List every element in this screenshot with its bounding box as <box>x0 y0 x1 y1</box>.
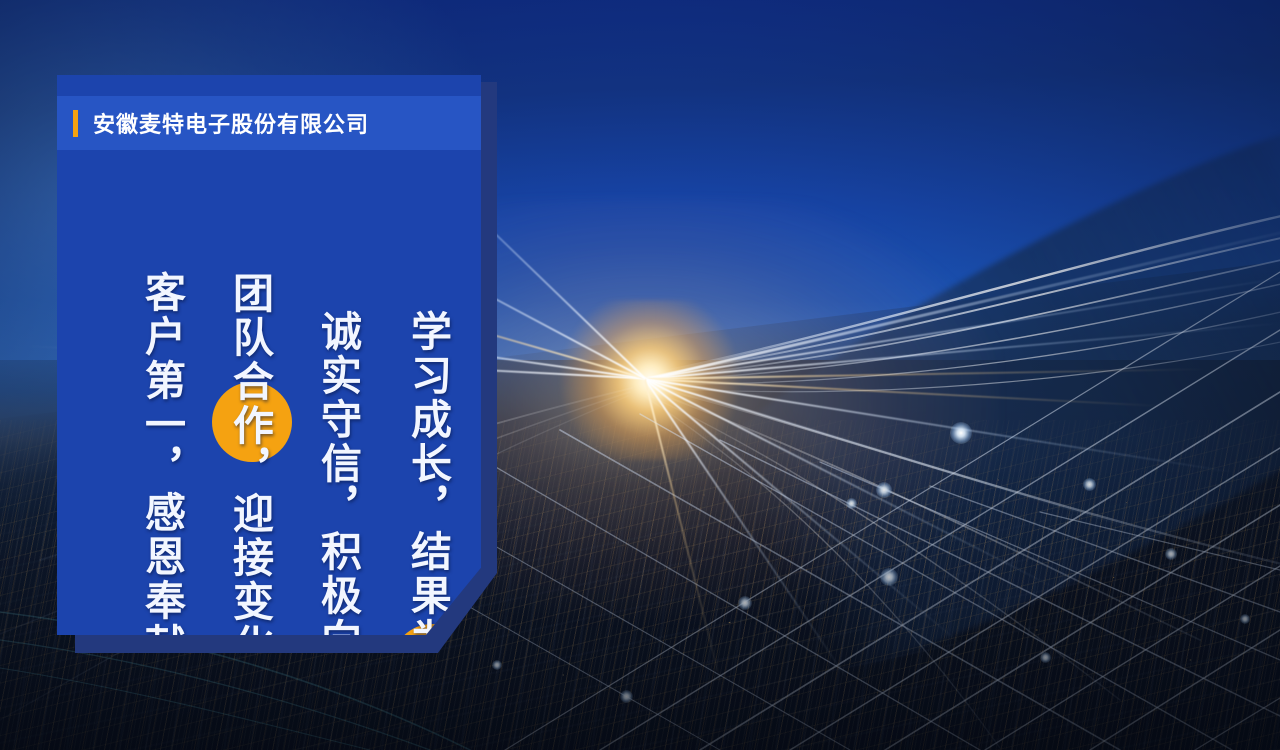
accent-bar-icon <box>73 110 78 137</box>
slogan-group: 客户第一，感恩奉献 团队合作，迎接变化 诚实守信，积极向上 学习成长，结果为王 <box>57 188 481 635</box>
slogan-column-teamwork: 团队合作，迎接变化 <box>227 272 270 668</box>
page-title: 安徽麦特电子股份有限公司 <box>93 107 369 139</box>
card-header: 安徽麦特电子股份有限公司 <box>57 96 481 150</box>
slogan-column-customer-first: 客户第一，感恩奉献 <box>139 271 182 667</box>
slide-canvas: 安徽麦特电子股份有限公司 客户第一，感恩奉献 团队合作，迎接变化 诚实守信，积极… <box>0 0 1280 750</box>
culture-card: 安徽麦特电子股份有限公司 客户第一，感恩奉献 团队合作，迎接变化 诚实守信，积极… <box>57 75 481 635</box>
